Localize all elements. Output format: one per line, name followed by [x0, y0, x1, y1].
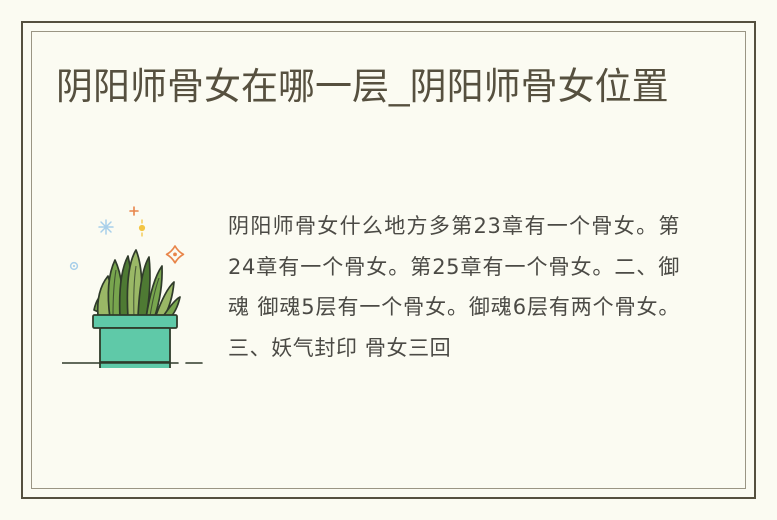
snowflake-sparkle	[99, 220, 113, 234]
plant-pot	[93, 315, 177, 368]
flower-sparkle-orange	[167, 246, 184, 263]
page-title: 阴阳师骨女在哪一层_阴阳师骨女位置	[56, 59, 676, 115]
potted-plant-illustration	[62, 196, 208, 368]
circle-sparkle-blue	[71, 263, 78, 270]
article-card: 阴阳师骨女在哪一层_阴阳师骨女位置	[0, 0, 777, 520]
plus-sparkle-orange	[130, 207, 138, 215]
plant-leaves	[94, 250, 180, 320]
dot-sparkle-yellow	[139, 220, 145, 236]
article-body: 阴阳师骨女什么地方多第23章有一个骨女。第24章有一个骨女。第25章有一个骨女。…	[228, 206, 680, 458]
